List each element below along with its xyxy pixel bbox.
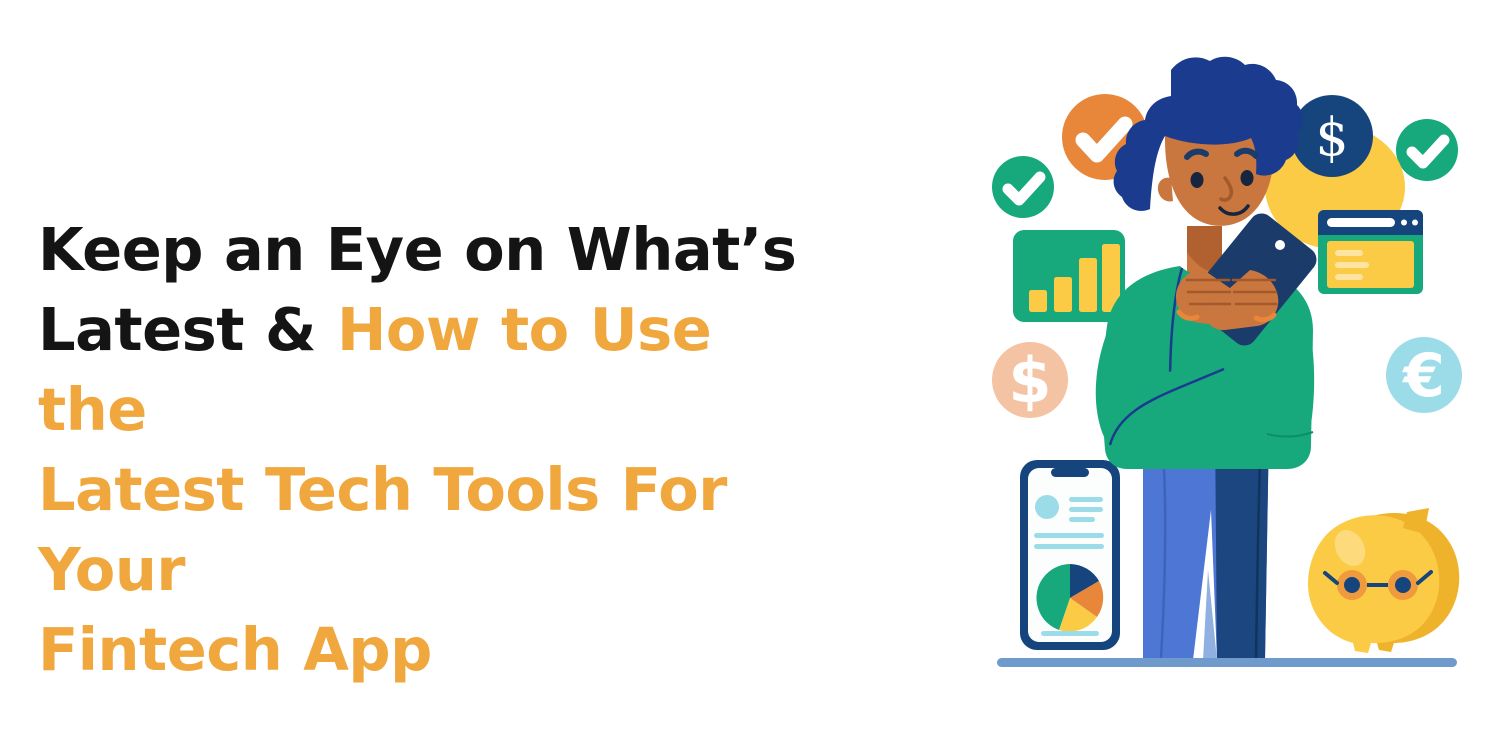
phone-icon	[1020, 460, 1120, 650]
hero-banner: Keep an Eye on What’sLatest & How to Use…	[0, 0, 1500, 750]
browser-window-icon	[1318, 210, 1423, 294]
piggy-bank-icon	[1308, 508, 1459, 653]
headline-line-3-accent: Latest Tech Tools For Your	[38, 455, 727, 604]
page-title: Keep an Eye on What’sLatest & How to Use…	[38, 210, 828, 690]
pie-chart-icon	[1036, 564, 1103, 632]
euro-icon: €	[1386, 337, 1462, 413]
headline-line-4-accent: Fintech App	[38, 615, 432, 684]
headline-line-1: Keep an Eye on What’s	[38, 215, 796, 284]
dollar-icon: $	[992, 342, 1068, 418]
fintech-illustration: $	[975, 30, 1495, 720]
headline-line-2-black: Latest &	[38, 295, 316, 364]
illustration-svg: $	[975, 30, 1495, 720]
svg-text:$: $	[1315, 108, 1348, 168]
check-icon	[1396, 119, 1458, 181]
headline-block: Keep an Eye on What’sLatest & How to Use…	[38, 210, 828, 690]
svg-text:$: $	[1008, 344, 1051, 417]
bar-chart-icon	[1013, 230, 1125, 322]
person-icon	[1096, 57, 1317, 660]
svg-text:€: €	[1401, 341, 1445, 411]
check-icon	[992, 156, 1054, 218]
line-icon	[997, 658, 1457, 667]
